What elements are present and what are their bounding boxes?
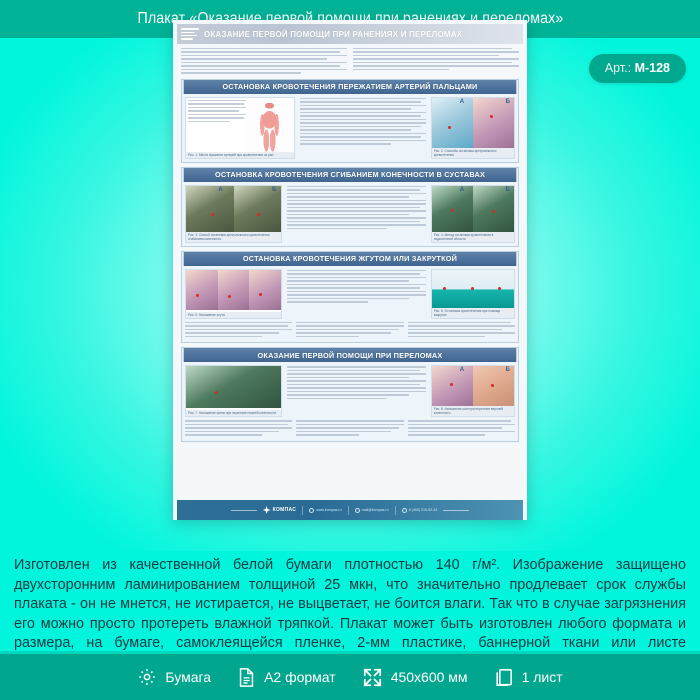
section-1-title: ОСТАНОВКА КРОВОТЕЧЕНИЯ ПЕРЕЖАТИЕМ АРТЕРИ…: [184, 80, 517, 94]
section-3-caption-right: Рис. 6. Остановка кровотечения при помощ…: [432, 308, 514, 318]
section-2-label-b: Б: [272, 187, 276, 193]
poster-brand: КОМПАС: [263, 506, 297, 514]
footer-website-text: www.kompas.ru: [316, 508, 341, 512]
mail-icon: [355, 508, 360, 513]
footer-divider-2: [348, 506, 349, 515]
section-3-caption-left: Рис. 5. Наложение жгута: [186, 312, 281, 318]
compass-icon: [263, 506, 271, 514]
section-1-text: [298, 97, 428, 159]
section-4-label-a: А: [460, 367, 464, 373]
poster-section-2: ОСТАНОВКА КРОВОТЕЧЕНИЯ СГИБАНИЕМ КОНЕЧНО…: [181, 167, 519, 247]
figure-leg-splint: Рис. 7. Наложение шины при переломе нижн…: [185, 365, 282, 417]
section-2-text: [285, 185, 428, 243]
article-badge: Арт.: М-128: [589, 54, 686, 83]
section-3-extra-text: [182, 322, 518, 342]
footer-phone-text: 8 (495) 215-52-44: [409, 508, 438, 512]
section-1-body: Рис. 1. Места прижатия артерий при крово…: [182, 94, 518, 162]
section-1-caption-right: Рис. 2. Способы остановки артериального …: [432, 148, 514, 158]
figure-twist-tourniquet: Рис. 6. Остановка кровотечения при помощ…: [431, 269, 515, 319]
section-4-label-b: Б: [506, 367, 510, 373]
spec-bar: Бумага А2 формат 450x600 мм: [0, 654, 700, 700]
figure-tourniquet: Рис. 5. Наложение жгута: [185, 269, 282, 319]
section-4-text: [285, 365, 428, 417]
section-1-label-a: А: [460, 99, 464, 105]
section-3-body: Рис. 5. Наложение жгута Рис. 6. Остановк…: [182, 266, 518, 322]
spec-format-label: А2 формат: [264, 669, 336, 685]
poster-footer: КОМПАС www.kompas.ru mail@kompas.ru 8 (4…: [177, 500, 523, 520]
section-4-caption-right: Рис. 8. Наложение шин при переломе верхн…: [432, 406, 514, 416]
footer-item-phone: 8 (495) 215-52-44: [402, 508, 438, 513]
spec-quantity-label: 1 лист: [522, 669, 563, 685]
figure-finger-pressure: А Б Рис. 2. Способы остановки артериальн…: [431, 97, 515, 159]
spec-material-label: Бумага: [165, 669, 211, 685]
section-1-label-b: Б: [506, 99, 510, 105]
footer-divider-3: [395, 506, 396, 515]
spec-quantity: 1 лист: [494, 667, 563, 688]
spec-size: 450x600 мм: [362, 667, 468, 688]
figure-joint-flex-arm: А Б Рис. 3. Способ остановки артериально…: [185, 185, 282, 243]
document-icon: [237, 667, 256, 688]
footer-divider-1: [302, 506, 303, 515]
spec-material: Бумага: [137, 667, 211, 687]
intro-column-left: [181, 48, 347, 76]
poster-header-title: ОКАЗАНИЕ ПЕРВОЙ ПОМОЩИ ПРИ РАНЕНИЯХ И ПЕ…: [204, 30, 462, 39]
figure-body-artery-map: Рис. 1. Места прижатия артерий при крово…: [185, 97, 295, 159]
section-2-label-a2: А: [460, 187, 464, 193]
resize-icon: [362, 667, 383, 688]
section-2-caption-left: Рис. 3. Способ остановки артериального к…: [186, 232, 281, 242]
section-1-caption-left: Рис. 1. Места прижатия артерий при крово…: [186, 152, 294, 158]
footer-item-website: www.kompas.ru: [309, 508, 341, 513]
poster-section-3: ОСТАНОВКА КРОВОТЕЧЕНИЯ ЖГУТОМ ИЛИ ЗАКРУТ…: [181, 251, 519, 343]
section-3-text: [285, 269, 428, 319]
poster-preview[interactable]: ОКАЗАНИЕ ПЕРВОЙ ПОМОЩИ ПРИ РАНЕНИЯХ И ПЕ…: [173, 20, 527, 520]
section-3-title: ОСТАНОВКА КРОВОТЕЧЕНИЯ ЖГУТОМ ИЛИ ЗАКРУТ…: [184, 252, 517, 266]
globe-icon: [309, 508, 314, 513]
article-label: Арт.:: [605, 61, 631, 75]
gear-icon: [137, 667, 157, 687]
poster-brand-name: КОМПАС: [273, 507, 297, 513]
footer-rule-left: [231, 510, 257, 511]
poster-section-4: ОКАЗАНИЕ ПЕРВОЙ ПОМОЩИ ПРИ ПЕРЕЛОМАХ Рис…: [181, 347, 519, 441]
figure-joint-flex-leg: А Б Рис. 4. Метод остановки кровотечения…: [431, 185, 515, 243]
footer-rule-right: [443, 510, 469, 511]
section-2-label-a: А: [218, 187, 222, 193]
section-4-extra-text: [182, 420, 518, 440]
poster-header: ОКАЗАНИЕ ПЕРВОЙ ПОМОЩИ ПРИ РАНЕНИЯХ И ПЕ…: [177, 24, 523, 44]
section-4-title: ОКАЗАНИЕ ПЕРВОЙ ПОМОЩИ ПРИ ПЕРЕЛОМАХ: [184, 348, 517, 362]
section-2-caption-right: Рис. 4. Метод остановки кровотечения в п…: [432, 232, 514, 242]
section-4-body: Рис. 7. Наложение шины при переломе нижн…: [182, 362, 518, 420]
lines-icon: [181, 28, 199, 39]
poster-section-1: ОСТАНОВКА КРОВОТЕЧЕНИЯ ПЕРЕЖАТИЕМ АРТЕРИ…: [181, 79, 519, 163]
poster-intro: [177, 44, 523, 79]
figure-arm-sling: А Б Рис. 8. Наложение шин при переломе в…: [431, 365, 515, 417]
intro-column-right: [353, 48, 519, 76]
phone-icon: [402, 508, 407, 513]
spec-size-label: 450x600 мм: [391, 669, 468, 685]
spec-format: А2 формат: [237, 667, 336, 688]
section-2-body: А Б Рис. 3. Способ остановки артериально…: [182, 182, 518, 246]
article-value: М-128: [635, 61, 670, 75]
footer-item-email: mail@kompas.ru: [355, 508, 389, 513]
section-2-title: ОСТАНОВКА КРОВОТЕЧЕНИЯ СГИБАНИЕМ КОНЕЧНО…: [184, 168, 517, 182]
section-4-caption-left: Рис. 7. Наложение шины при переломе нижн…: [186, 410, 281, 416]
footer-email-text: mail@kompas.ru: [362, 508, 389, 512]
layers-icon: [494, 667, 514, 688]
section-2-label-b2: Б: [506, 187, 510, 193]
